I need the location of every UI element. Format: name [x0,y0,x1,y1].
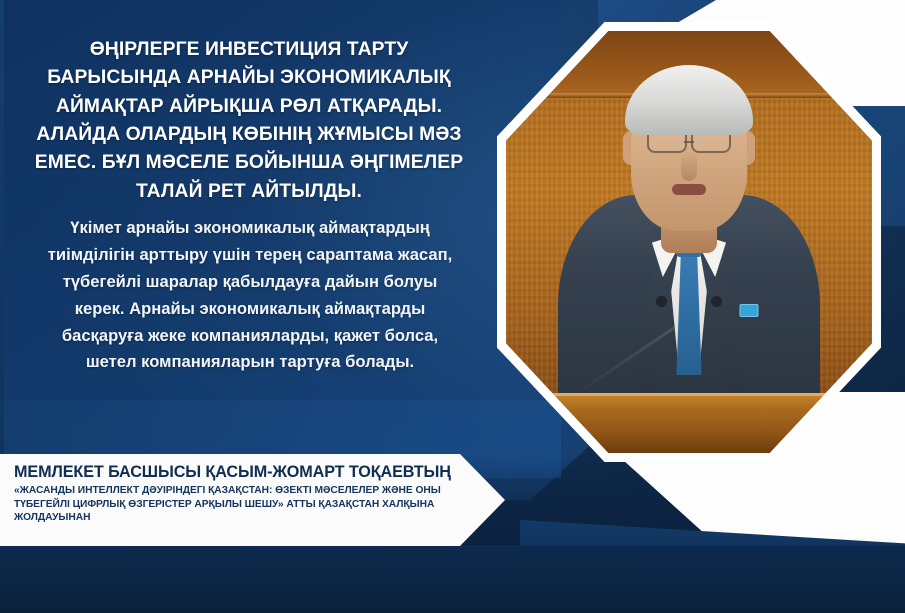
attribution-banner: МЕМЛЕКЕТ БАСШЫСЫ ҚАСЫМ-ЖОМАРТ ТОҚАЕВТЫҢ … [0,454,505,546]
microphone-head-left-icon [656,296,667,307]
portrait-container [497,22,881,462]
glasses-bridge-icon [684,141,694,143]
microphone-stem-right-icon [827,410,872,453]
attribution-subtitle: «ЖАСАНДЫ ИНТЕЛЛЕКТ ДӘУІРІНДЕГІ ҚАЗАҚСТАН… [14,484,462,525]
attribution-title: МЕМЛЕКЕТ БАСШЫСЫ ҚАСЫМ-ЖОМАРТ ТОҚАЕВТЫҢ [14,463,462,481]
quote-body: Үкімет арнайы экономикалық аймақтардың т… [36,215,464,376]
attribution-banner-content: МЕМЛЕКЕТ БАСШЫСЫ ҚАСЫМ-ЖОМАРТ ТОҚАЕВТЫҢ … [14,463,462,525]
portrait-photo [506,31,872,453]
photo-backdrop [506,31,872,453]
bottom-blue-strip [0,545,905,613]
figure-nose [681,151,697,181]
flag-lapel-pin-icon [740,304,759,317]
figure-mouth [672,184,706,195]
quote-headline: ӨҢІРЛЕРГЕ ИНВЕСТИЦИЯ ТАРТУ БАРЫСЫНДА АРН… [24,36,474,206]
podium [506,393,872,453]
quote-poster: ӨҢІРЛЕРГЕ ИНВЕСТИЦИЯ ТАРТУ БАРЫСЫНДА АРН… [0,0,905,613]
microphone-head-right-icon [711,296,722,307]
